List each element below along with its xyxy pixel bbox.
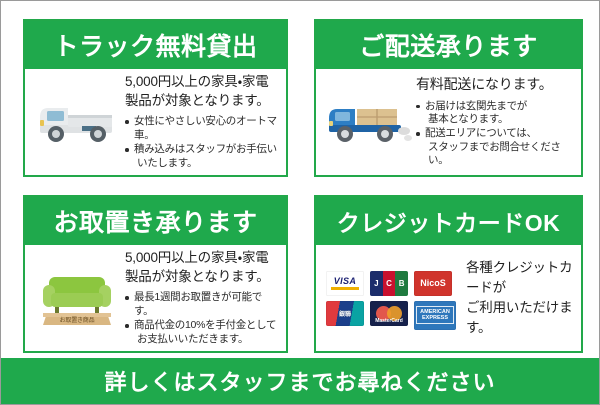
bullet-text: 商品代金の10%を手付金として: [134, 319, 276, 331]
bullet-text: 配送エリアについては、: [425, 127, 537, 139]
card-truck-rental: トラック無料貸出: [23, 19, 288, 177]
footer-banner: 詳しくはスタッフまでお尋ねください: [1, 358, 599, 404]
bullet-text-cont: スタッフまでお問合せください。: [425, 141, 575, 168]
panel-lead-truck-rental: 5,000円以上の家具・家電製品が対象となります。: [125, 73, 280, 110]
green-sofa-icon: お取置き商品: [29, 267, 125, 329]
panel-copy-delivery: 有料配送になります。 お届けは玄関先までが 基本となります。 配送エリアについて…: [416, 75, 575, 169]
unionpay-label: 銀聯: [339, 309, 351, 318]
footer-text: 詳しくはスタッフまでお尋ねください: [104, 365, 495, 397]
unionpay-card-icon: 銀聯: [326, 301, 364, 326]
panel-bullets-delivery: お届けは玄関先までが 基本となります。 配送エリアについては、 スタッフまでお問…: [416, 100, 575, 168]
jcb-letter-c: C: [383, 271, 396, 296]
mastercard-label: MasterCard: [370, 318, 408, 324]
bullet-text: お届けは玄関先までが: [425, 100, 527, 112]
bullet-text: 最長1週間お取置きが可能です。: [134, 291, 262, 316]
sofa-tag-label: お取置き商品: [60, 316, 95, 324]
service-panel-grid: トラック無料貸出: [1, 1, 599, 353]
bullet-text: 積み込みはスタッフがお手伝い: [134, 143, 277, 155]
amex-label: AMERICANEXPRESS: [416, 306, 454, 324]
white-kei-truck-icon: [29, 95, 125, 149]
jcb-letter-j: J: [370, 271, 383, 296]
panel-body-layaway: お取置き商品 5,000円以上の家具・家電製品が対象となります。 最長1週間お取…: [25, 245, 286, 351]
card-layaway: お取置き承ります お取置き商品: [23, 195, 288, 353]
visa-label: VISA: [334, 276, 357, 286]
list-item: お届けは玄関先までが 基本となります。: [416, 100, 575, 127]
nicos-card-icon: NicoS: [414, 271, 452, 296]
panel-title-delivery: ご配送承ります: [316, 21, 581, 69]
list-item: 最長1週間お取置きが可能です。: [125, 291, 280, 318]
nicos-label: NicoS: [420, 278, 446, 288]
panel-truck-rental: トラック無料貸出: [1, 1, 300, 185]
credit-card-logo-grid: VISA J C B NicoS: [326, 271, 452, 326]
panel-title-truck-rental: トラック無料貸出: [25, 21, 286, 69]
list-item: 商品代金の10%を手付金として お支払いいただきます。: [125, 319, 280, 346]
panel-layaway: お取置き承ります お取置き商品: [1, 185, 300, 367]
poster-root: トラック無料貸出: [0, 0, 600, 405]
list-item: 女性にやさしい安心のオートマ車。: [125, 115, 280, 142]
panel-copy-layaway: 5,000円以上の家具・家電製品が対象となります。 最長1週間お取置きが可能です…: [125, 249, 280, 347]
bullet-text-cont: いたします。: [134, 157, 280, 170]
panel-body-truck-rental: 5,000円以上の家具・家電製品が対象となります。 女性にやさしい安心のオートマ…: [25, 69, 286, 175]
bullet-text-cont: 基本となります。: [425, 113, 575, 126]
panel-title-credit-card: クレジットカードOK: [316, 197, 581, 245]
credit-card-lead-line2: ご利用いただけます。: [466, 298, 575, 339]
panel-body-credit-card: VISA J C B NicoS: [316, 245, 581, 351]
mastercard-card-icon: MasterCard: [370, 301, 408, 326]
panel-delivery: ご配送承ります: [300, 1, 599, 185]
list-item: 配送エリアについては、 スタッフまでお問合せください。: [416, 127, 575, 167]
panel-lead-layaway: 5,000円以上の家具・家電製品が対象となります。: [125, 249, 280, 286]
panel-body-delivery: 有料配送になります。 お届けは玄関先までが 基本となります。 配送エリアについて…: [316, 69, 581, 175]
list-item: 積み込みはスタッフがお手伝い いたします。: [125, 143, 280, 170]
jcb-strips: J C B: [370, 271, 408, 296]
card-credit-card: クレジットカードOK VISA J C: [314, 195, 583, 353]
credit-card-content: VISA J C B NicoS: [320, 249, 575, 347]
panel-credit-card: クレジットカードOK VISA J C: [300, 185, 599, 367]
visa-card-icon: VISA: [326, 271, 364, 296]
credit-card-lead-line1: 各種クレジットカードが: [466, 258, 575, 299]
bullet-text: 女性にやさしい安心のオートマ車。: [134, 115, 277, 140]
panel-title-layaway: お取置き承ります: [25, 197, 286, 245]
panel-copy-truck-rental: 5,000円以上の家具・家電製品が対象となります。 女性にやさしい安心のオートマ…: [125, 73, 280, 171]
card-delivery: ご配送承ります: [314, 19, 583, 177]
panel-bullets-layaway: 最長1週間お取置きが可能です。 商品代金の10%を手付金として お支払いいただき…: [125, 291, 280, 346]
jcb-letter-b: B: [395, 271, 408, 296]
visa-bar: [331, 287, 359, 290]
amex-card-icon: AMERICANEXPRESS: [414, 301, 456, 330]
panel-bullets-truck-rental: 女性にやさしい安心のオートマ車。 積み込みはスタッフがお手伝い いたします。: [125, 115, 280, 170]
blue-delivery-truck-icon: [320, 95, 416, 149]
bullet-text-cont: お支払いいただきます。: [134, 333, 280, 346]
panel-lead-delivery: 有料配送になります。: [416, 75, 575, 94]
credit-card-copy: 各種クレジットカードが ご利用いただけます。: [452, 258, 575, 339]
jcb-card-icon: J C B: [370, 271, 408, 296]
